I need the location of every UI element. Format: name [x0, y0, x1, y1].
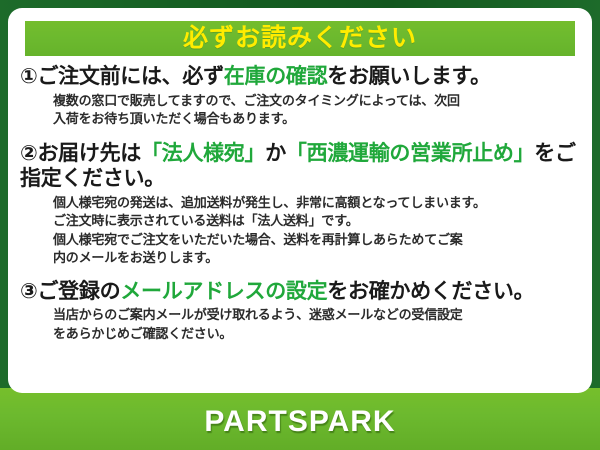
notice-item-2-marker: ②	[20, 142, 37, 165]
notice-item-3-subtext: 当店からのご案内メールが受け取れるよう、迷惑メールなどの受信設定 をあらかじめご…	[20, 306, 586, 343]
notice-item-2-heading: ②お届け先は「法人様宛」か「西濃運輸の営業所止め」をご指定ください。	[20, 141, 586, 192]
spacer-2	[8, 268, 592, 279]
notice-item-3-marker: ③	[20, 280, 37, 303]
notice-item-2-subtext-line-4: 内のメールをお送りします。	[53, 249, 586, 267]
notice-item-2-heading-mid: か	[265, 142, 286, 165]
page-title: 必ずお読みください	[183, 26, 417, 51]
notice-item-2-heading-accent: 「法人様宛」	[141, 142, 265, 165]
brand-logo-text: PARTSPARK	[204, 405, 395, 439]
title-banner: 必ずお読みください	[25, 21, 575, 56]
notice-item-3-subtext-line-1: 当店からのご案内メールが受け取れるよう、迷惑メールなどの受信設定	[53, 306, 586, 324]
notice-item-1: ①ご注文前には、必ず在庫の確認をお願いします。 複数の窓口で販売してますので、ご…	[8, 64, 592, 129]
notice-item-3-heading-pre: ご登録の	[37, 280, 120, 303]
white-panel: 必ずお読みください ①ご注文前には、必ず在庫の確認をお願いします。 複数の窓口で…	[8, 8, 592, 393]
notice-item-2-subtext-line-3: 個人様宅宛でご注文をいただいた場合、送料を再計算しあらためてご案	[53, 231, 586, 249]
spacer-1	[8, 129, 592, 141]
notice-item-3-subtext-line-2: をあらかじめご確認ください。	[53, 325, 586, 343]
notice-item-1-heading-pre: ご注文前には、必ず	[37, 65, 223, 88]
notice-item-2-subtext: 個人様宅宛の発送は、追加送料が発生し、非常に高額となってしまいます。 ご注文時に…	[20, 194, 586, 268]
footer-bar: PARTSPARK	[0, 393, 600, 450]
notice-item-2-heading-pre: お届け先は	[37, 142, 141, 165]
notice-item-2: ②お届け先は「法人様宛」か「西濃運輸の営業所止め」をご指定ください。 個人様宅宛…	[8, 141, 592, 268]
notice-item-3: ③ご登録のメールアドレスの設定をお確かめください。 当店からのご案内メールが受け…	[8, 279, 592, 344]
notice-item-1-subtext: 複数の窓口で販売してますので、ご注文のタイミングによっては、次回 入荷をお待ち頂…	[20, 92, 586, 129]
notice-item-1-marker: ①	[20, 65, 37, 88]
notice-item-3-heading: ③ご登録のメールアドレスの設定をお確かめください。	[20, 279, 586, 305]
notice-card: 必ずお読みください ①ご注文前には、必ず在庫の確認をお願いします。 複数の窓口で…	[0, 0, 600, 450]
notice-item-2-heading-accent-2: 「西濃運輸の営業所止め」	[286, 142, 534, 165]
notice-item-1-heading-accent: 在庫の確認	[224, 65, 328, 88]
notice-item-1-heading: ①ご注文前には、必ず在庫の確認をお願いします。	[20, 64, 586, 90]
notice-item-2-subtext-line-2: ご注文時に表示されている送料は「法人送料」です。	[53, 212, 586, 230]
notice-item-3-heading-accent: メールアドレスの設定	[120, 280, 327, 303]
notice-body: ①ご注文前には、必ず在庫の確認をお願いします。 複数の窓口で販売してますので、ご…	[8, 64, 592, 343]
notice-item-3-heading-post: をお確かめください。	[327, 280, 534, 303]
notice-item-1-subtext-line-1: 複数の窓口で販売してますので、ご注文のタイミングによっては、次回	[53, 92, 586, 110]
notice-item-2-subtext-line-1: 個人様宅宛の発送は、追加送料が発生し、非常に高額となってしまいます。	[53, 194, 586, 212]
notice-item-1-subtext-line-2: 入荷をお待ち頂いただく場合もあります。	[53, 110, 586, 128]
notice-item-1-heading-post: をお願いします。	[327, 65, 491, 88]
